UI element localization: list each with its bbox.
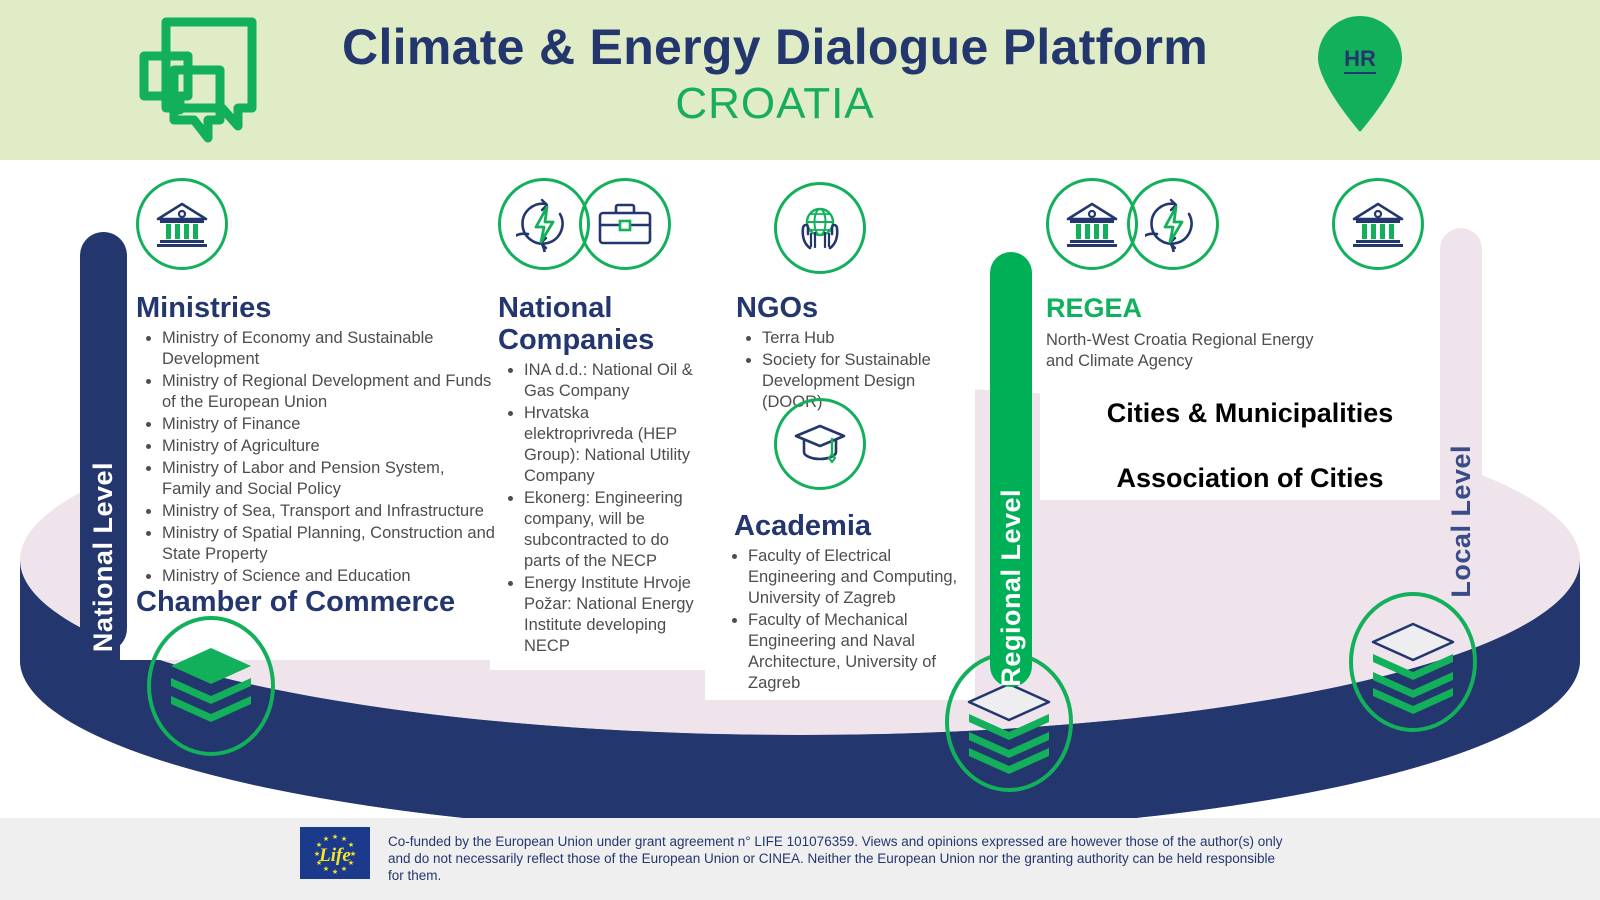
svg-text:★: ★ — [332, 868, 338, 876]
level-label-local: Local Level — [1446, 431, 1477, 598]
list-item: Ekonerg: Engineering company, will be su… — [524, 488, 698, 572]
national-companies-list: INA d.d.: National Oil & Gas Company Hrv… — [498, 360, 698, 657]
list-item: Ministry of Economy and Sustainable Deve… — [162, 328, 496, 370]
list-item: INA d.d.: National Oil & Gas Company — [524, 360, 698, 402]
list-item: Ministry of Finance — [162, 414, 496, 435]
svg-text:★: ★ — [341, 865, 347, 873]
svg-text:★: ★ — [323, 835, 329, 843]
list-item: Ministry of Agriculture — [162, 436, 496, 457]
section-chamber-of-commerce: Chamber of Commerce — [136, 586, 496, 618]
page-header: Climate & Energy Dialogue Platform CROAT… — [0, 0, 1600, 160]
academia-list: Faculty of Electrical Engineering and Co… — [722, 546, 972, 694]
section-title-chamber: Chamber of Commerce — [136, 586, 496, 618]
speech-bubbles-icon — [130, 8, 265, 148]
list-item: Ministry of Labor and Pension System, Fa… — [162, 458, 496, 500]
svg-text:Life: Life — [318, 845, 351, 866]
regea-description: North-West Croatia Regional Energy and C… — [1046, 330, 1336, 372]
country-code-label: HR — [1310, 46, 1410, 72]
level-bar-regional: Regional Level — [990, 252, 1032, 687]
list-item: Ministry of Regional Development and Fun… — [162, 371, 496, 413]
graduation-cap-icon — [774, 398, 866, 490]
eu-life-logo: ★★★ ★★★ ★★★ ★★★ Life — [300, 827, 370, 879]
ministries-list: Ministry of Economy and Sustainable Deve… — [136, 328, 496, 587]
map-pin-icon — [1310, 10, 1410, 135]
bank-building-icon — [1046, 178, 1138, 270]
page-title: Climate & Energy Dialogue Platform — [270, 18, 1280, 76]
bank-building-icon — [1332, 178, 1424, 270]
svg-text:★: ★ — [332, 833, 338, 841]
globe-in-hands-icon — [774, 182, 866, 274]
stacked-layers-icon — [1348, 592, 1478, 732]
section-local-entities: Cities & Municipalities Association of C… — [1070, 398, 1430, 494]
local-line-association: Association of Cities — [1070, 463, 1430, 494]
section-academia: Academia Faculty of Electrical Engineeri… — [722, 398, 972, 695]
section-title-companies-line2: Companies — [498, 324, 654, 356]
svg-text:★: ★ — [323, 865, 329, 873]
section-national-companies: National Companies INA d.d.: National Oi… — [498, 178, 698, 658]
bank-building-icon — [136, 178, 228, 270]
list-item: Faculty of Mechanical Engineering and Na… — [748, 610, 972, 694]
energy-cycle-icon — [498, 178, 590, 270]
section-title-regea: REGEA — [1046, 292, 1366, 324]
energy-cycle-icon — [1127, 178, 1219, 270]
page-subtitle: CROATIA — [270, 78, 1280, 130]
section-ngos: NGOs Terra Hub Society for Sustainable D… — [736, 182, 971, 414]
stacked-layers-icon — [146, 616, 276, 756]
list-item: Ministry of Sea, Transport and Infrastru… — [162, 501, 496, 522]
section-title-ngos: NGOs — [736, 292, 971, 324]
list-item: Ministry of Spatial Planning, Constructi… — [162, 523, 496, 565]
list-item: Hrvatska elektroprivreda (HEP Group): Na… — [524, 403, 698, 487]
svg-text:★: ★ — [341, 835, 347, 843]
header-title-group: Climate & Energy Dialogue Platform CROAT… — [270, 18, 1280, 130]
section-title-ministries: Ministries — [136, 292, 496, 324]
list-item: Energy Institute Hrvoje Požar: National … — [524, 573, 698, 657]
list-item: Ministry of Science and Education — [162, 566, 496, 587]
country-pin: HR — [1310, 10, 1410, 135]
list-item: Faculty of Electrical Engineering and Co… — [748, 546, 972, 609]
level-bar-national: National Level — [80, 232, 127, 652]
section-ministries: Ministries Ministry of Economy and Susta… — [136, 178, 496, 588]
section-title-companies-line1: National — [498, 292, 612, 324]
briefcase-icon — [579, 178, 671, 270]
funding-disclaimer: Co-funded by the European Union under gr… — [388, 833, 1288, 884]
section-title-academia: Academia — [734, 510, 972, 542]
section-regea: REGEA North-West Croatia Regional Energy… — [1046, 178, 1366, 372]
level-label-regional: Regional Level — [996, 475, 1027, 687]
level-bar-local: Local Level — [1440, 228, 1482, 598]
list-item: Terra Hub — [762, 328, 971, 349]
section-local-icon — [1332, 178, 1432, 270]
level-label-national: National Level — [88, 448, 119, 652]
local-line-cities: Cities & Municipalities — [1070, 398, 1430, 429]
